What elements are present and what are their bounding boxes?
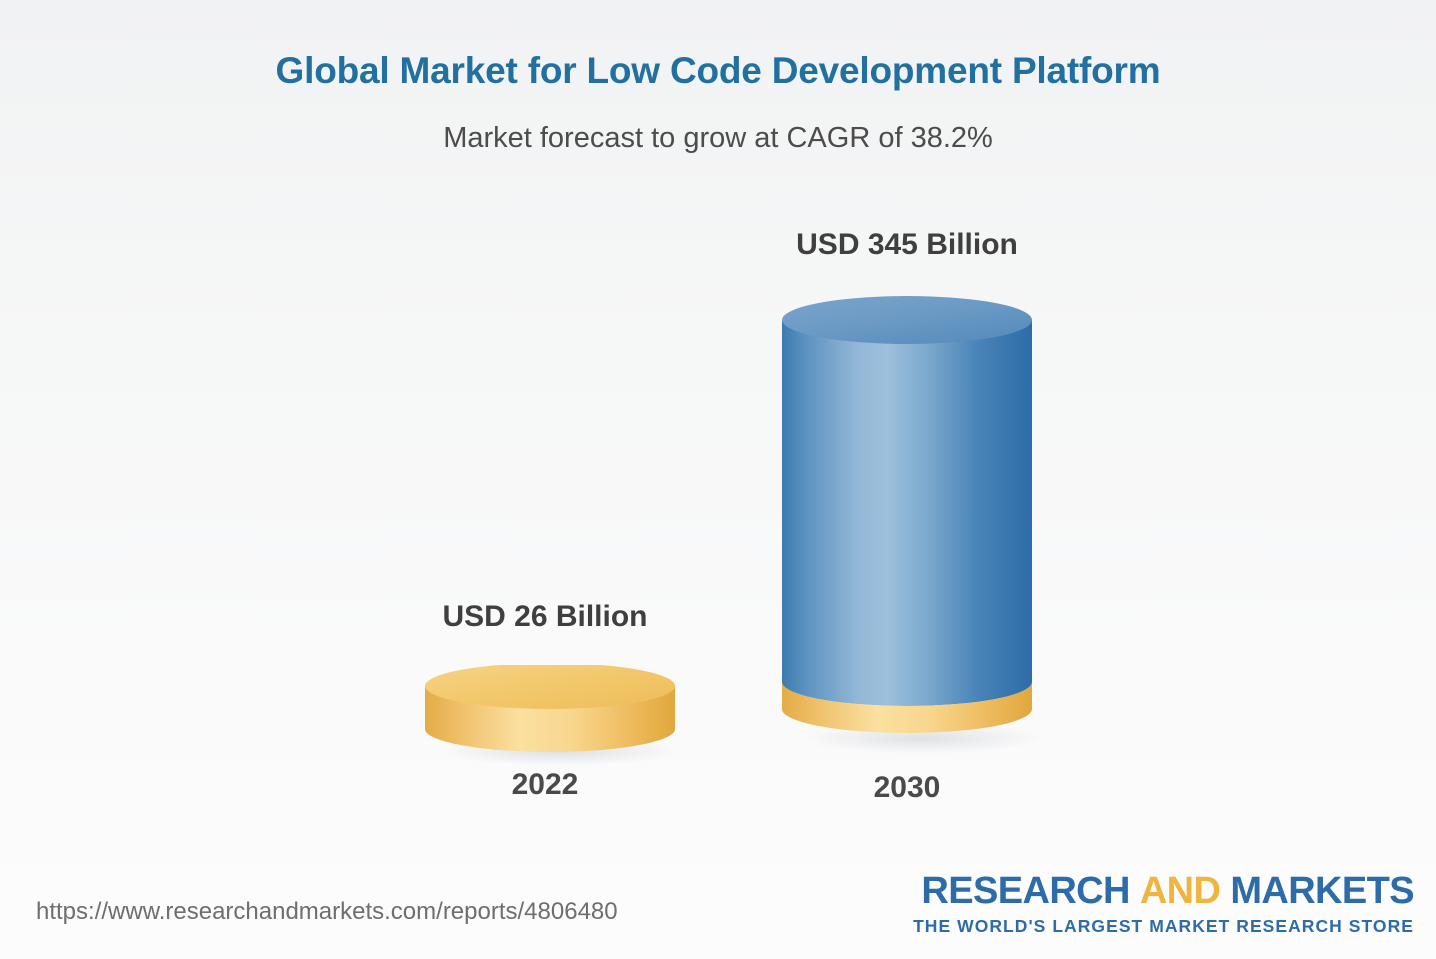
- cylinder-2030-svg: [777, 286, 1047, 756]
- chart-plot-area: USD 26 Billion: [0, 0, 1436, 959]
- cylinder-bar-2022[interactable]: [420, 665, 680, 765]
- logo-word-research: RESEARCH: [921, 870, 1129, 912]
- logo-word-markets: MARKETS: [1230, 870, 1414, 912]
- logo-tagline: THE WORLD'S LARGEST MARKET RESEARCH STOR…: [913, 918, 1414, 936]
- bar-group-2022[interactable]: USD 26 Billion: [395, 600, 695, 820]
- source-url[interactable]: https://www.researchandmarkets.com/repor…: [36, 898, 618, 926]
- logo-word-and: AND: [1140, 870, 1221, 912]
- category-label-2022: 2022: [395, 768, 695, 802]
- logo-wordmark: RESEARCH AND MARKETS: [913, 872, 1414, 910]
- cylinder-bar-2030[interactable]: [777, 286, 1047, 756]
- cylinder-2022-svg: [420, 665, 680, 765]
- researchandmarkets-logo[interactable]: RESEARCH AND MARKETS THE WORLD'S LARGEST…: [913, 872, 1414, 936]
- data-label-2022: USD 26 Billion: [395, 600, 695, 634]
- data-label-2030: USD 345 Billion: [757, 228, 1057, 262]
- category-label-2030: 2030: [757, 771, 1057, 805]
- chart-slide: Global Market for Low Code Development P…: [0, 0, 1436, 959]
- bar-group-2030[interactable]: USD 345 Billion: [757, 228, 1057, 823]
